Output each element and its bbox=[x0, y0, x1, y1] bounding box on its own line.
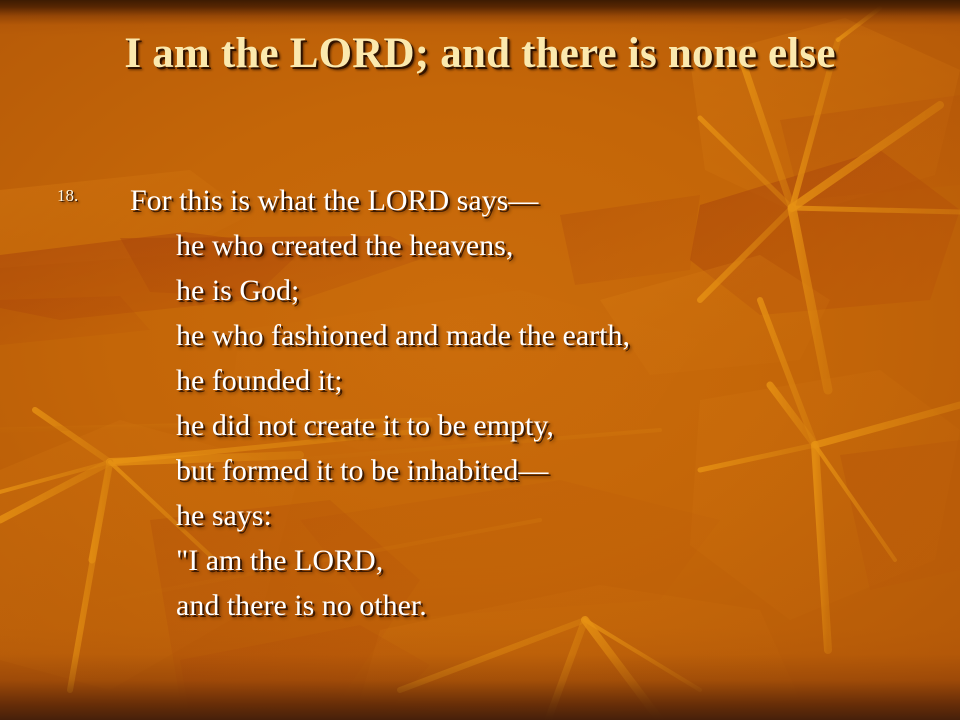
verse-line: For this is what the LORD says— bbox=[130, 178, 538, 223]
verse-line-row: he did not create it to be empty, bbox=[0, 403, 960, 448]
page-title: I am the LORD; and there is none else bbox=[40, 28, 920, 80]
verse-line: he is God; bbox=[176, 268, 299, 313]
verse-line: he who created the heavens, bbox=[176, 223, 513, 268]
verse-line-row: he founded it; bbox=[0, 358, 960, 403]
verse-line: he who fashioned and made the earth, bbox=[176, 313, 630, 358]
verse-line-row: he says: bbox=[0, 493, 960, 538]
verse-line-row: he who fashioned and made the earth, bbox=[0, 313, 960, 358]
verse-line: and there is no other. bbox=[176, 583, 427, 628]
title-block: I am the LORD; and there is none else bbox=[40, 28, 920, 80]
verse-line-row: and there is no other. bbox=[0, 583, 960, 628]
verse-line: but formed it to be inhabited— bbox=[176, 448, 548, 493]
verse-line: "I am the LORD, bbox=[176, 538, 383, 583]
verse-line: he did not create it to be empty, bbox=[176, 403, 554, 448]
verse-line-row: "I am the LORD, bbox=[0, 538, 960, 583]
verse-line-row: he is God; bbox=[0, 268, 960, 313]
presentation-slide: I am the LORD; and there is none else 18… bbox=[0, 0, 960, 720]
verse-line-row: he who created the heavens, bbox=[0, 223, 960, 268]
verse-line: he founded it; bbox=[176, 358, 343, 403]
verse-line: he says: bbox=[176, 493, 272, 538]
verse-line-row: but formed it to be inhabited— bbox=[0, 448, 960, 493]
verse-line-row: For this is what the LORD says— bbox=[0, 178, 960, 223]
verse-body: 18. For this is what the LORD says—he wh… bbox=[0, 178, 960, 628]
